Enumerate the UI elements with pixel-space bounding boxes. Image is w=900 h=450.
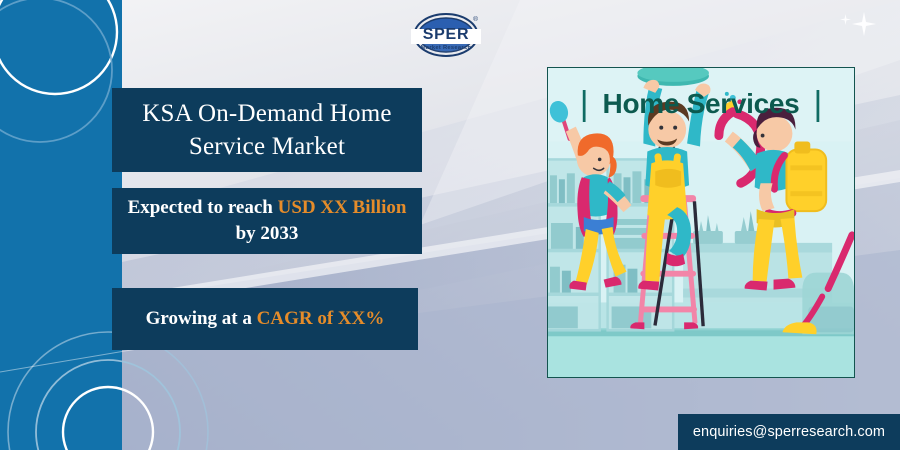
headline-line-1: KSA On-Demand Home [142,97,391,131]
logo-registered-mark: ® [473,15,478,23]
forecast-line-2: by 2033 [236,221,299,247]
growth-value: CAGR of XX% [257,308,385,329]
growth-line-1: Growing at a CAGR of XX% [146,306,385,332]
logo-tagline: Market Research [421,45,472,51]
headline-line-2: Service Market [189,130,345,164]
left-blue-column [0,0,113,450]
sparkle-large-icon [852,12,876,36]
sper-logo: SPER Market Research ® [398,11,494,59]
contact-email-bar[interactable]: enquiries@sperresearch.com [678,414,900,450]
growth-band: Growing at a CAGR of XX% [112,288,418,350]
forecast-band: Expected to reach USD XX Billion by 2033 [112,188,422,254]
contact-email-text: enquiries@sperresearch.com [693,424,885,440]
panel-heading: | Home Services | [548,68,854,140]
headline-band: KSA On-Demand Home Service Market [112,88,422,172]
left-bar-glyph: | [580,87,589,121]
illustration-panel: | Home Services | [547,67,855,378]
logo-wordmark: SPER [423,26,470,43]
forecast-line-1: Expected to reach USD XX Billion [128,195,407,221]
forecast-prefix: Expected to reach [128,197,278,218]
right-bar-glyph: | [813,87,822,121]
sparkle-small-icon [840,14,851,25]
forecast-value: USD XX Billion [278,197,407,218]
panel-title: Home Services [603,88,800,120]
infographic-canvas: SPER Market Research ® KSA On-Demand Hom… [0,0,900,450]
growth-prefix: Growing at a [146,308,257,329]
